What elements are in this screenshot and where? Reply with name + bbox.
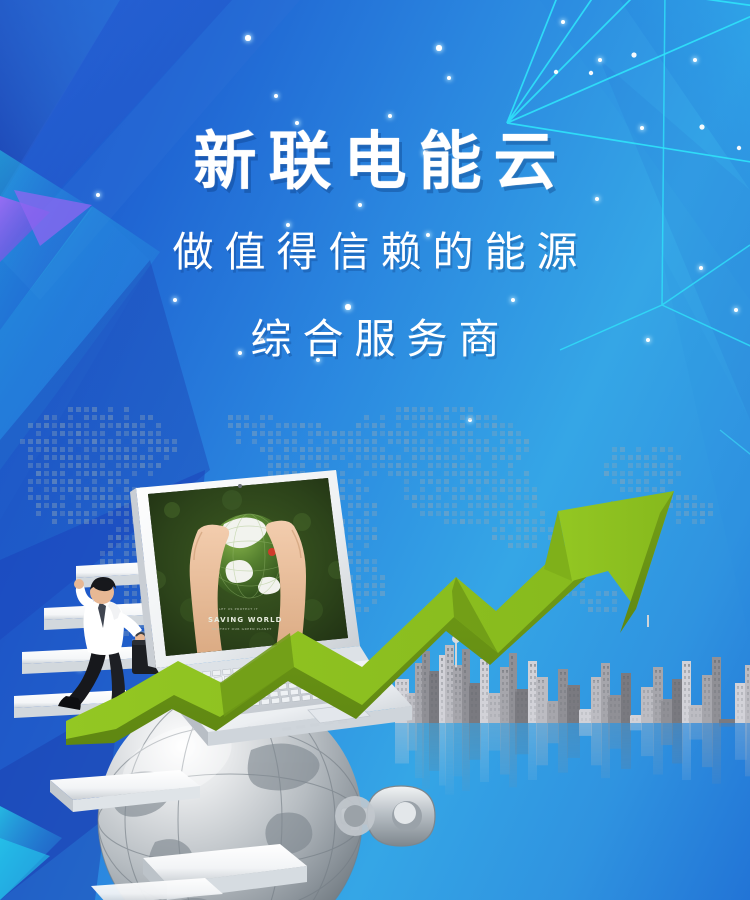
glow-dot — [436, 45, 441, 50]
headline-block: 新联电能云 做值得信赖的能源 综合服务商 — [0, 128, 750, 369]
poster-banner: 新联电能云 做值得信赖的能源 综合服务商 — [0, 0, 750, 900]
rising-arrow — [60, 505, 680, 745]
glow-dot — [245, 35, 250, 40]
page-subtitle-line1: 做值得信赖的能源 — [0, 222, 750, 283]
page-subtitle-line2: 综合服务商 — [0, 309, 750, 370]
page-title: 新联电能云 — [0, 128, 750, 196]
